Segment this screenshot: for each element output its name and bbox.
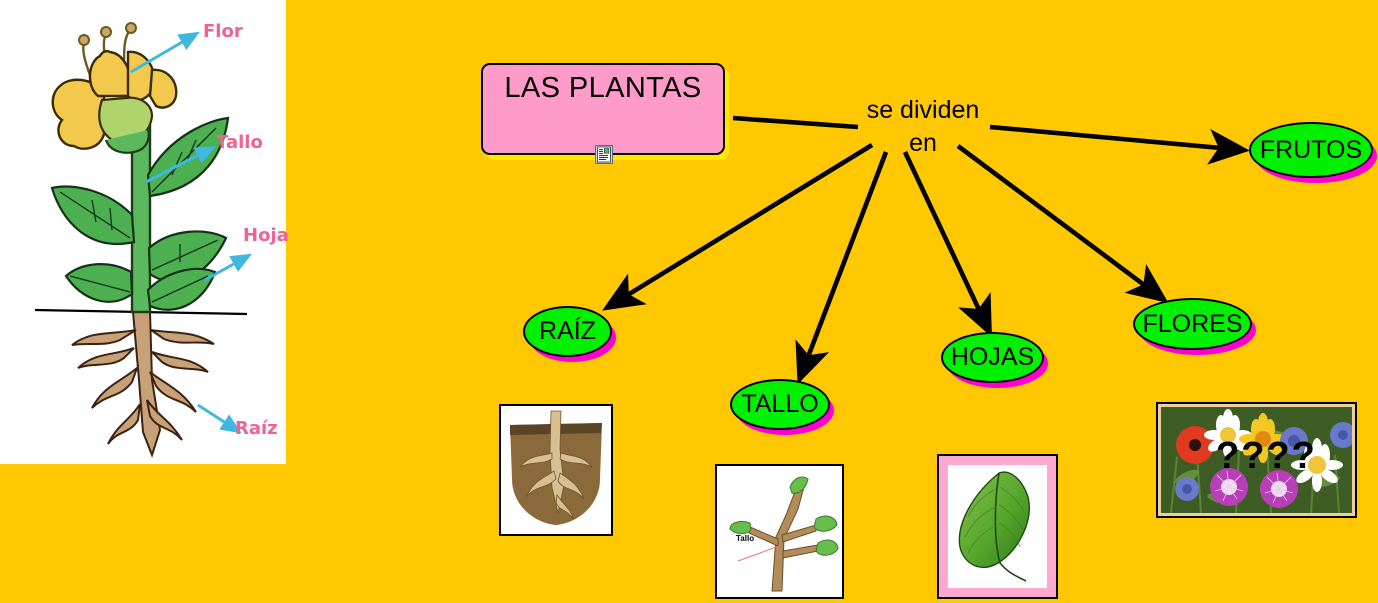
plant-label-raiz: Raíz	[235, 418, 278, 439]
hub-label-line2: en	[861, 127, 985, 160]
thumbnail-raiz[interactable]	[501, 406, 611, 534]
node-tallo[interactable]: TALLO	[730, 379, 830, 430]
connector-hub-to-raiz	[608, 145, 872, 307]
plant-label-hoja: Hoja	[243, 225, 289, 246]
stem-branch-diagram: Tallo	[720, 469, 839, 594]
hub-label: se dividen en	[861, 94, 985, 160]
root-in-soil-photo	[504, 409, 608, 531]
node-frutos[interactable]: FRUTOS	[1249, 122, 1373, 178]
document-image-icon[interactable]	[595, 145, 613, 164]
title-box[interactable]: LAS PLANTAS	[481, 63, 725, 155]
slide-canvas: Flor Tallo Hoja Raíz LAS PLANTAS	[0, 0, 1378, 603]
connector-hub-to-tallo	[800, 152, 886, 378]
thumbnail-hojas[interactable]	[939, 456, 1056, 597]
node-tallo-label: TALLO	[741, 390, 818, 419]
plant-illustration-card: Flor Tallo Hoja Raíz	[0, 0, 289, 464]
connector-hub-to-flores	[958, 146, 1163, 299]
node-raiz-label: RAÍZ	[539, 317, 596, 346]
thumbnail-tallo[interactable]: Tallo	[717, 466, 842, 597]
connector-hub-to-hojas	[905, 152, 989, 331]
node-hojas-label: HOJAS	[951, 343, 1034, 372]
thumbnail-tallo-caption: Tallo	[736, 534, 754, 543]
node-frutos-label: FRUTOS	[1260, 136, 1362, 165]
title-text: LAS PLANTAS	[504, 72, 701, 105]
node-flores[interactable]: FLORES	[1133, 298, 1252, 350]
plant-label-flor: Flor	[203, 21, 243, 42]
connector-hub-to-frutos	[990, 127, 1243, 150]
node-hojas[interactable]: HOJAS	[941, 332, 1044, 383]
node-raiz[interactable]: RAÍZ	[523, 306, 612, 357]
green-leaf-photo	[948, 465, 1047, 588]
plant-label-tallo: Tallo	[216, 132, 263, 153]
connector-title-to-hub	[733, 118, 858, 127]
hub-label-line1: se dividen	[861, 94, 985, 127]
node-flores-label: FLORES	[1142, 310, 1242, 339]
flores-overlay-question-marks: ????	[1216, 437, 1317, 475]
